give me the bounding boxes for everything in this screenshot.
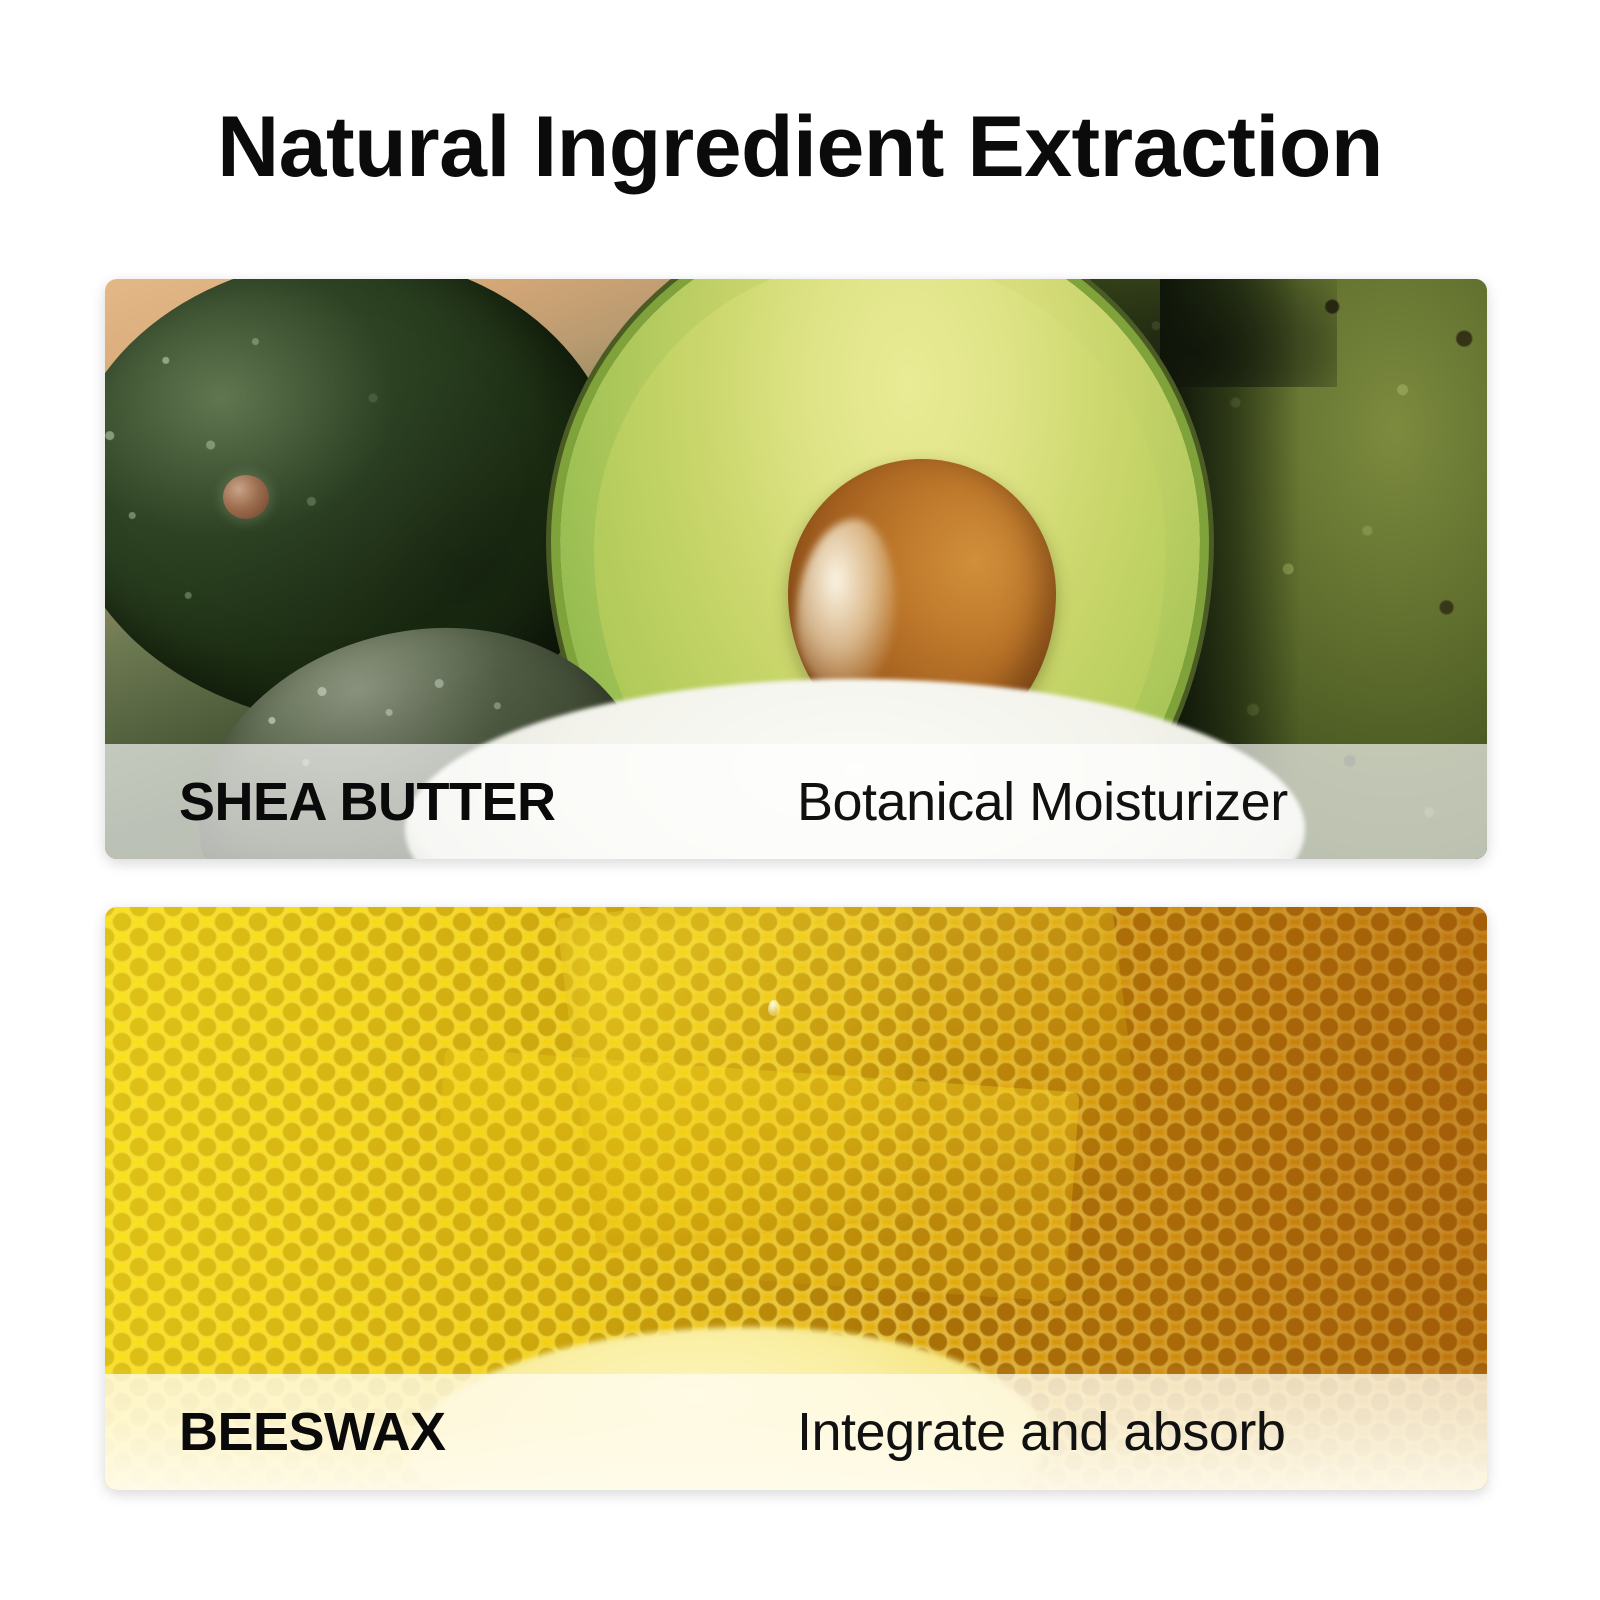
caption-bar-beeswax: BEESWAX Integrate and absorb	[105, 1374, 1487, 1490]
avocado-stem-nub	[223, 475, 269, 519]
honeycomb-slab-middle	[430, 1048, 1079, 1302]
caption-bar-shea-butter: SHEA BUTTER Botanical Moisturizer	[105, 744, 1487, 859]
ingredient-tagline-shea-butter: Botanical Moisturizer	[797, 771, 1288, 833]
ingredient-card-shea-butter[interactable]: SHEA BUTTER Botanical Moisturizer	[105, 279, 1487, 859]
ingredient-tagline-beeswax: Integrate and absorb	[797, 1401, 1285, 1463]
ingredient-name-beeswax: BEESWAX	[179, 1401, 797, 1463]
product-feature-page: Natural Ingredient Extraction	[0, 0, 1600, 1600]
page-title: Natural Ingredient Extraction	[0, 104, 1600, 190]
ingredient-name-shea-butter: SHEA BUTTER	[179, 771, 797, 833]
ingredient-card-beeswax[interactable]: BEESWAX Integrate and absorb	[105, 907, 1487, 1490]
avocado-pit-highlight	[796, 519, 896, 694]
